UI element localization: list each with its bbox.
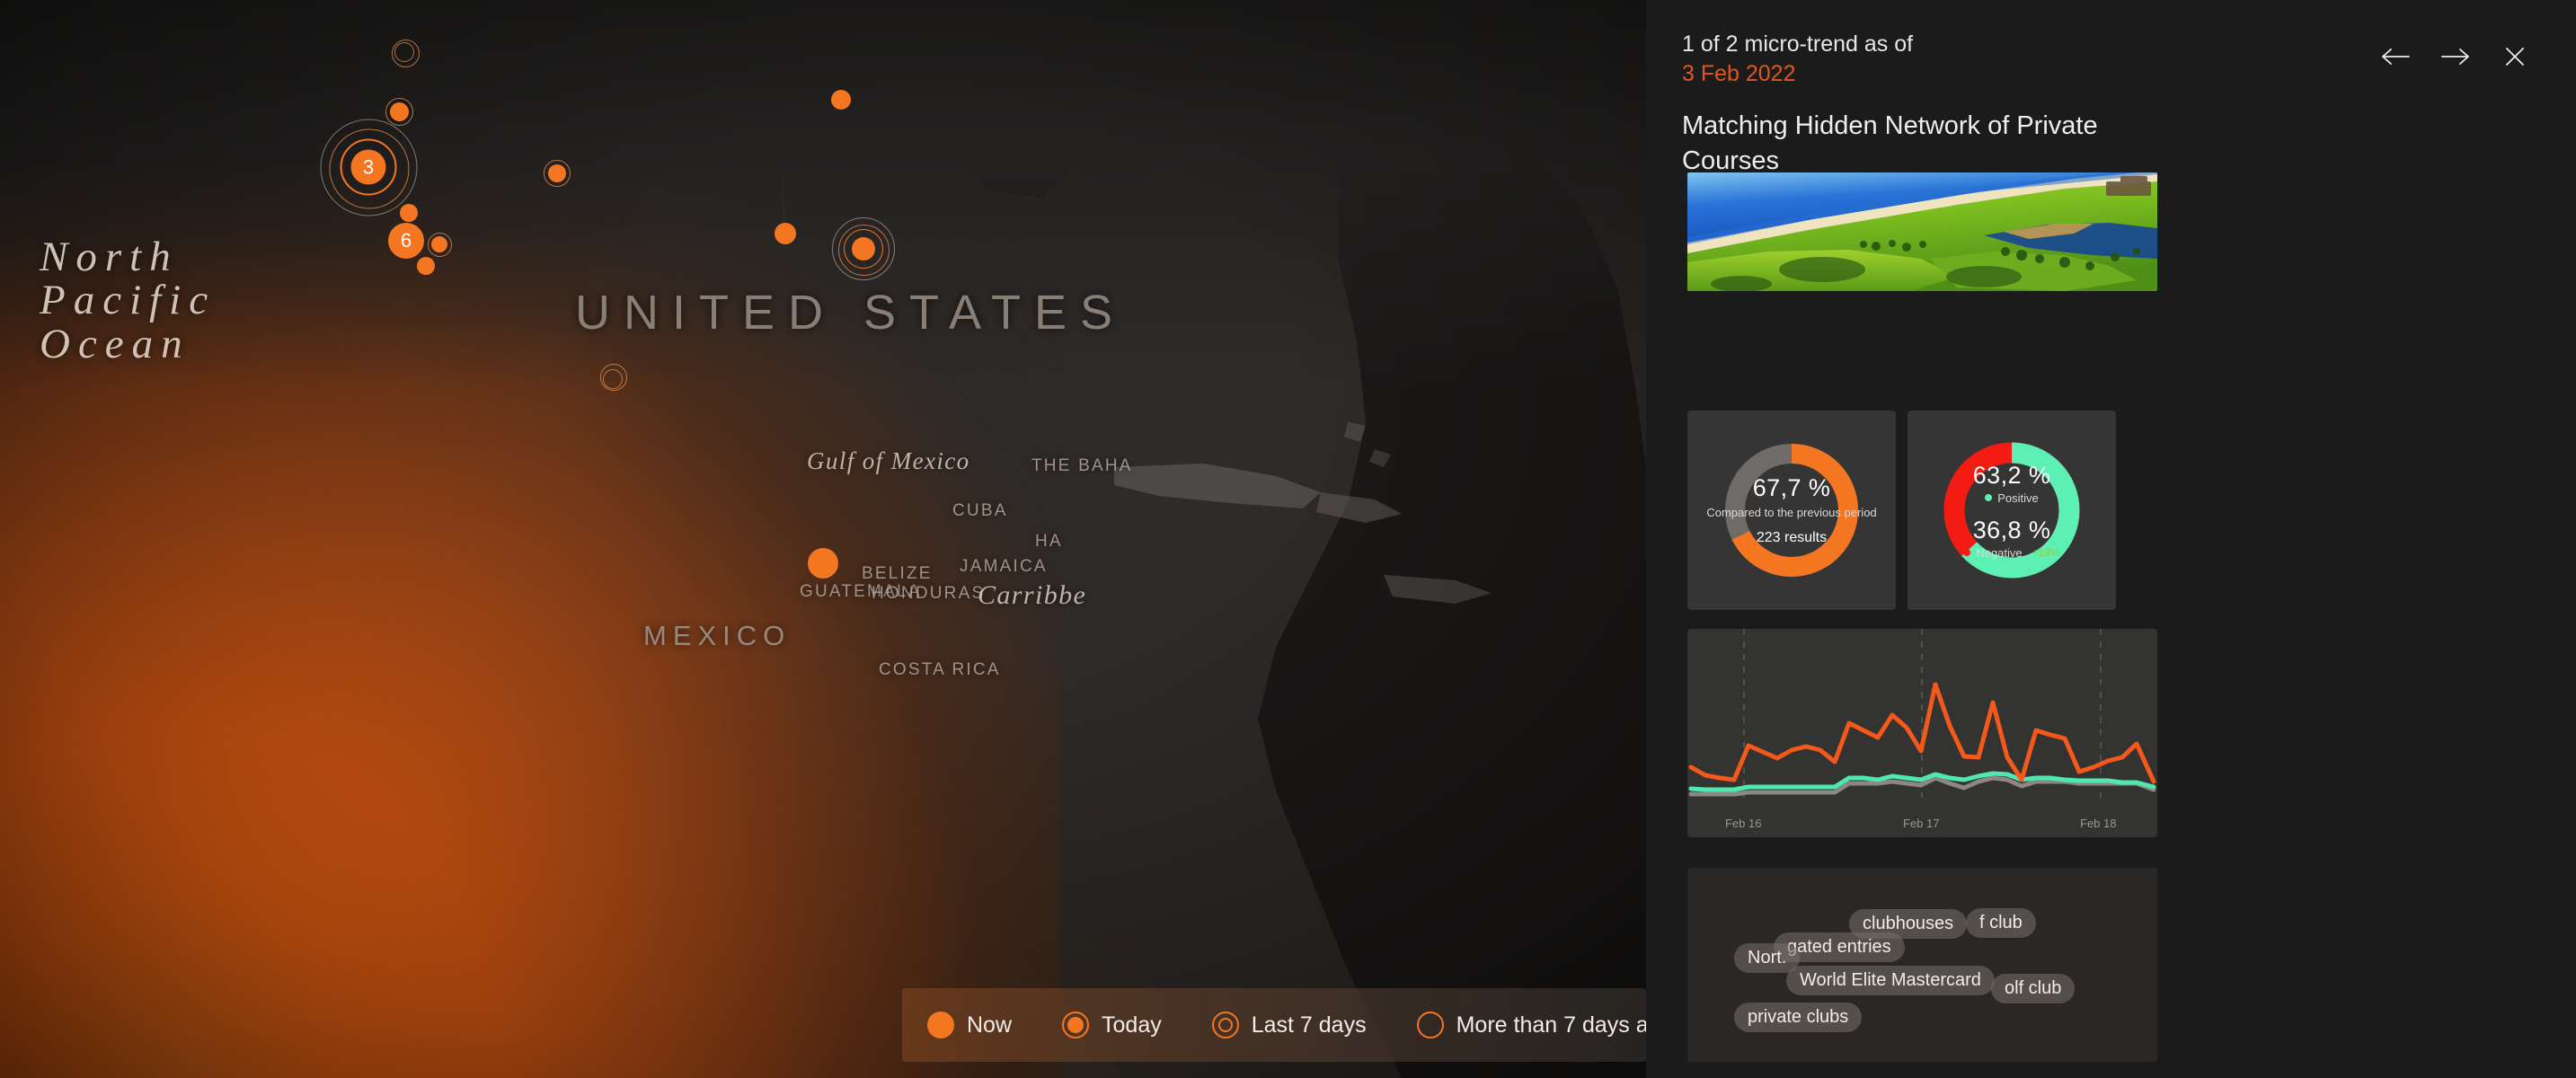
panel-counter: 1 of 2 micro-trend as of 3 Feb 2022 xyxy=(1682,30,2371,89)
xaxis-label-2: Feb 18 xyxy=(2080,817,2116,830)
metric-cards-row: 67,7 % Compared to the previous period 2… xyxy=(1687,411,2157,610)
map-canvas[interactable]: North Pacific Ocean UNITED STATES MEXICO… xyxy=(0,0,1646,1078)
xaxis-label-1: Feb 17 xyxy=(1903,817,1939,830)
keyword-tag[interactable]: private clubs xyxy=(1734,1003,1862,1032)
legend-label: Now xyxy=(967,1012,1012,1038)
map-marker-filled-5[interactable] xyxy=(805,545,841,581)
map-marker-ring-2[interactable] xyxy=(598,361,630,393)
legend-label: Last 7 days xyxy=(1252,1012,1367,1038)
app-root: North Pacific Ocean UNITED STATES MEXICO… xyxy=(0,0,2576,1078)
donut-card-sentiment[interactable]: 63,2 % Positive 36,8 % Negative +19% xyxy=(1908,411,2116,610)
legend-item-more-than-7-days[interactable]: More than 7 days ag xyxy=(1417,1012,1646,1038)
panel-title: Matching Hidden Network of Private Cours… xyxy=(1682,109,2185,178)
map-vignette xyxy=(0,0,1646,1078)
legend-label: More than 7 days ag xyxy=(1456,1012,1646,1038)
hero-image[interactable] xyxy=(1687,172,2157,291)
panel-counter-text: 1 of 2 micro-trend as of xyxy=(1682,31,1913,57)
legend-glyph-last-7-days xyxy=(1212,1012,1239,1038)
keyword-tag[interactable]: f club xyxy=(1966,908,2036,938)
arrow-left-icon[interactable] xyxy=(2371,35,2421,78)
map-marker-filled-1[interactable] xyxy=(826,84,856,115)
legend-item-now[interactable]: Now xyxy=(927,1012,1012,1038)
keyword-tag[interactable]: World Elite Mastercard xyxy=(1786,966,1995,995)
panel-header: 1 of 2 micro-trend as of 3 Feb 2022 xyxy=(1682,0,2540,89)
map-marker-filled-4[interactable] xyxy=(772,220,799,247)
keyword-tag[interactable]: Nort. xyxy=(1734,943,1800,973)
xaxis-label-0: Feb 16 xyxy=(1725,817,1761,830)
detail-panel: 1 of 2 micro-trend as of 3 Feb 2022 Matc… xyxy=(1646,0,2576,1078)
donut-card-volume[interactable]: 67,7 % Compared to the previous period 2… xyxy=(1687,411,1896,610)
legend-glyph-now xyxy=(927,1012,954,1038)
map-marker-filled-ring-2[interactable] xyxy=(539,155,575,191)
legend-label: Today xyxy=(1102,1012,1162,1038)
panel-date: 3 Feb 2022 xyxy=(1682,59,2371,89)
panel-nav-controls xyxy=(2371,30,2540,78)
legend-glyph-today xyxy=(1062,1012,1089,1038)
keyword-cloud-card[interactable]: clubhouses f club gated entries Nort. Wo… xyxy=(1687,868,2157,1062)
timeseries-chart-card[interactable]: Feb 16 Feb 17 Feb 18 xyxy=(1687,629,2157,837)
time-legend-bar[interactable]: Now Today Last 7 days More than 7 days a… xyxy=(902,988,1646,1062)
map-marker-pulse-east[interactable] xyxy=(830,216,897,282)
legend-item-today[interactable]: Today xyxy=(1062,1012,1162,1038)
arrow-right-icon[interactable] xyxy=(2430,35,2481,78)
donut-chart-volume xyxy=(1720,438,1863,582)
timeseries-chart xyxy=(1687,629,2157,837)
donut-chart-sentiment xyxy=(1938,437,2085,584)
marker-count-label: 3 xyxy=(363,155,374,179)
map-marker-filled-3[interactable] xyxy=(414,254,438,278)
marker-count-label: 6 xyxy=(401,229,412,252)
close-icon[interactable] xyxy=(2490,35,2540,78)
legend-item-last-7-days[interactable]: Last 7 days xyxy=(1212,1012,1367,1038)
keyword-tag[interactable]: olf club xyxy=(1991,974,2075,1003)
map-marker-ring-1[interactable] xyxy=(387,35,423,71)
legend-glyph-more-than-7-days xyxy=(1417,1012,1444,1038)
